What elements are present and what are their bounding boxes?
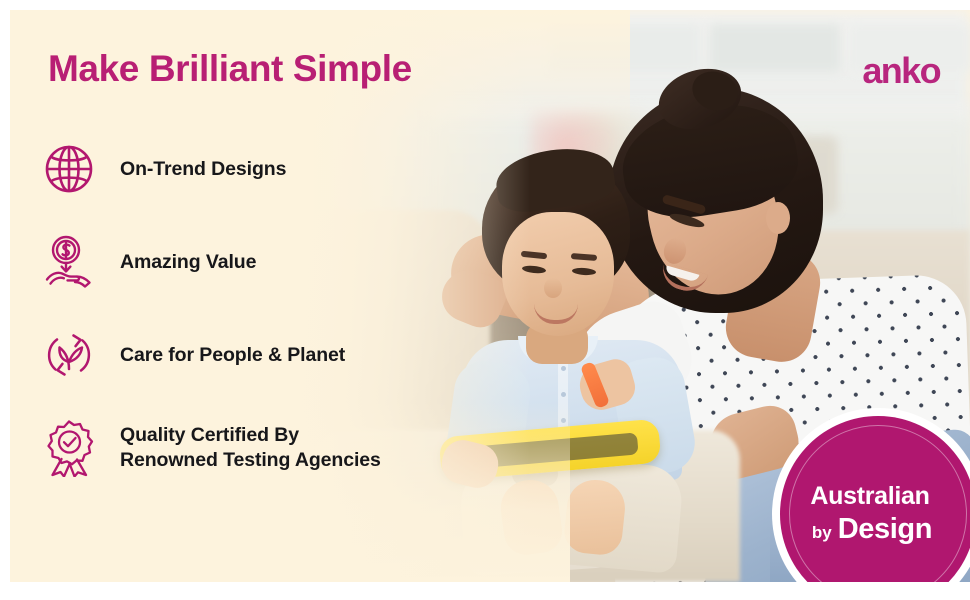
value-hand-coin-icon: [38, 231, 100, 293]
feature-label: Quality Certified By Renowned Testing Ag…: [120, 423, 381, 473]
badge-text: Australian by Design: [772, 408, 970, 582]
badge-line-australian: Australian: [810, 484, 929, 509]
anko-logo: anko: [862, 50, 940, 92]
feature-label-line1: Quality Certified By: [120, 424, 299, 446]
feature-label: Amazing Value: [120, 250, 256, 275]
banner-content: Make Brilliant Simple anko: [10, 10, 970, 582]
badge-word-design: Design: [838, 515, 932, 544]
feature-label: On-Trend Designs: [120, 157, 286, 182]
recycle-leaf-icon: [38, 324, 100, 386]
feature-item-amazing-value: Amazing Value: [38, 231, 478, 293]
feature-list: On-Trend Designs: [38, 138, 478, 479]
award-rosette-icon: [38, 417, 100, 479]
globe-icon: [38, 138, 100, 200]
feature-item-quality-certified: Quality Certified By Renowned Testing Ag…: [38, 417, 478, 479]
banner-card: Make Brilliant Simple anko: [10, 10, 970, 582]
feature-item-care-for-people-and-planet: Care for People & Planet: [38, 324, 478, 386]
page-title: Make Brilliant Simple: [48, 48, 412, 90]
australian-by-design-badge: Australian by Design: [772, 408, 970, 582]
badge-line-by-design: by Design: [812, 515, 932, 544]
banner-root: Make Brilliant Simple anko: [0, 0, 970, 600]
feature-item-on-trend-designs: On-Trend Designs: [38, 138, 478, 200]
feature-label-line2: Renowned Testing Agencies: [120, 449, 381, 471]
badge-word-by: by: [812, 524, 832, 541]
feature-label: Care for People & Planet: [120, 343, 345, 368]
